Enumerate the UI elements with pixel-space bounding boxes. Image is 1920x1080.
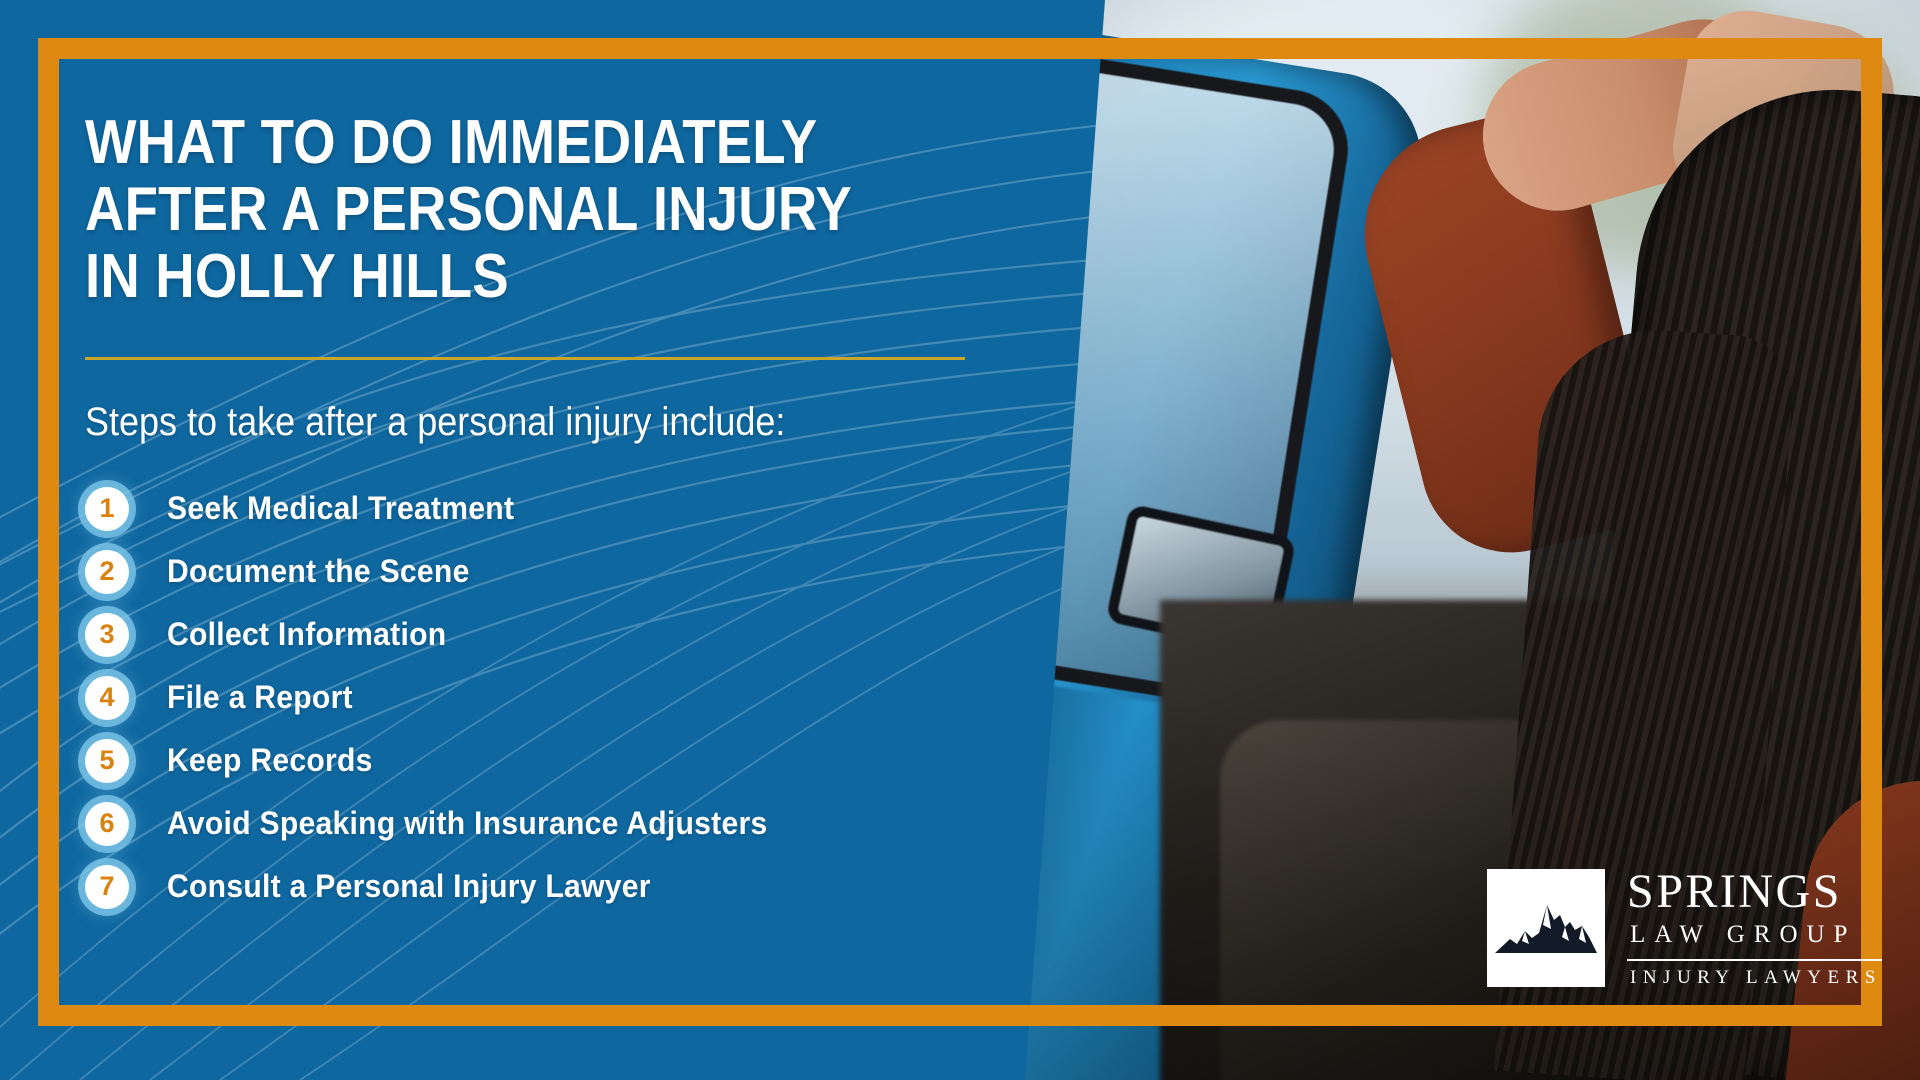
logo-wordmark: SPRINGS LAW GROUP INJURY LAWYERS xyxy=(1627,868,1882,989)
content-block: WHAT TO DO IMMEDIATELY AFTER A PERSONAL … xyxy=(85,110,1095,928)
springs-law-group-logo: SPRINGS LAW GROUP INJURY LAWYERS xyxy=(1487,868,1882,989)
gold-divider xyxy=(85,357,965,360)
step-label: Collect Information xyxy=(167,616,446,653)
list-item: 5 Keep Records xyxy=(85,739,1095,783)
subtitle: Steps to take after a personal injury in… xyxy=(85,400,994,445)
step-number-badge: 1 xyxy=(85,487,129,531)
list-item: 3 Collect Information xyxy=(85,613,1095,657)
step-number-badge: 4 xyxy=(85,676,129,720)
title-line-2: AFTER A PERSONAL INJURY xyxy=(85,175,852,244)
infographic-canvas: WHAT TO DO IMMEDIATELY AFTER A PERSONAL … xyxy=(0,0,1920,1080)
list-item: 2 Document the Scene xyxy=(85,550,1095,594)
step-label: Consult a Personal Injury Lawyer xyxy=(167,868,651,905)
step-label: Document the Scene xyxy=(167,553,470,590)
list-item: 6 Avoid Speaking with Insurance Adjuster… xyxy=(85,802,1095,846)
step-number-badge: 3 xyxy=(85,613,129,657)
step-number-badge: 6 xyxy=(85,802,129,846)
steps-list: 1 Seek Medical Treatment 2 Document the … xyxy=(85,487,1095,909)
mountain-peaks-icon xyxy=(1487,869,1605,987)
step-label: Avoid Speaking with Insurance Adjusters xyxy=(167,805,767,842)
step-number-badge: 7 xyxy=(85,865,129,909)
step-label: Seek Medical Treatment xyxy=(167,490,514,527)
list-item: 1 Seek Medical Treatment xyxy=(85,487,1095,531)
list-item: 7 Consult a Personal Injury Lawyer xyxy=(85,865,1095,909)
title-line-1: WHAT TO DO IMMEDIATELY xyxy=(85,108,817,177)
title-line-3: IN HOLLY HILLS xyxy=(85,242,509,311)
step-number-badge: 5 xyxy=(85,739,129,783)
logo-name: SPRINGS xyxy=(1627,868,1882,916)
step-label: File a Report xyxy=(167,679,353,716)
logo-subtagline: INJURY LAWYERS xyxy=(1627,967,1882,989)
mountain-peaks-glyph xyxy=(1494,889,1598,967)
page-title: WHAT TO DO IMMEDIATELY AFTER A PERSONAL … xyxy=(85,110,974,311)
list-item: 4 File a Report xyxy=(85,676,1095,720)
logo-tagline: LAW GROUP xyxy=(1627,916,1882,954)
step-number-badge: 2 xyxy=(85,550,129,594)
step-label: Keep Records xyxy=(167,742,373,779)
logo-divider-rule xyxy=(1627,959,1882,961)
